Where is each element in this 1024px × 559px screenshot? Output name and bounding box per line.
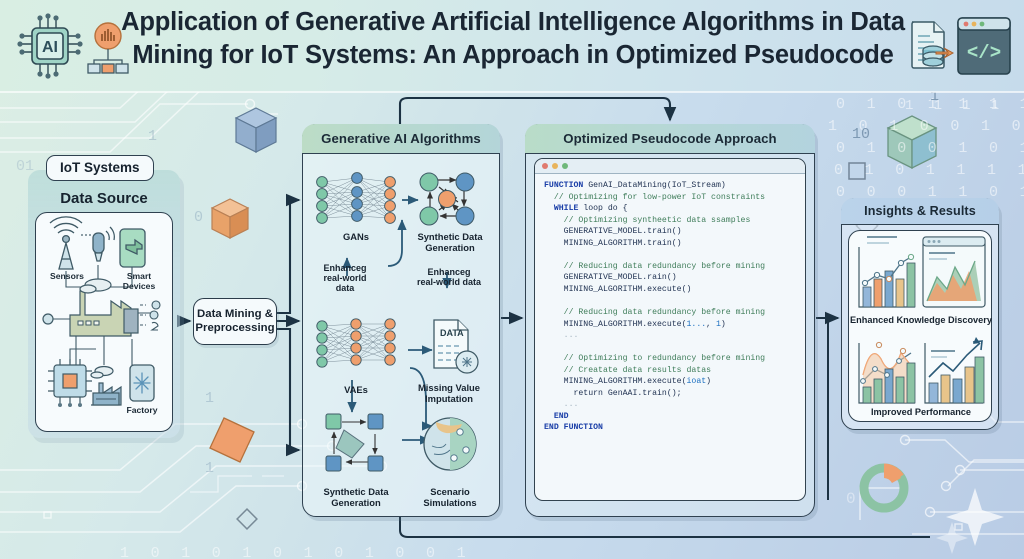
factory-label: Factory — [118, 405, 166, 415]
sdg-top-label-2: Generation — [400, 242, 500, 253]
sdg-bottom-label-2: Generation — [302, 497, 410, 508]
mvi-label-2: Imputation — [398, 393, 500, 404]
smart-devices-label-1: Smart — [114, 271, 164, 281]
missing-value-imputation-icon: DATA — [434, 320, 478, 373]
sensor-tower-icon — [50, 217, 82, 269]
smart-devices-label-2: Devices — [114, 281, 164, 291]
microchip-icon — [48, 359, 92, 407]
factory-small-icon — [88, 367, 122, 406]
edge-label-left-3: data — [306, 283, 384, 293]
binary-row-1: 0 1 0 1 1 1 1 1 1 1 0 0 0 1 1 0 — [836, 96, 1024, 113]
infographic-canvas: 0 1 0 1 1 1 1 1 1 1 0 0 0 1 1 0 1 0 1 0 … — [0, 0, 1024, 559]
code-content[interactable]: FUNCTION GenAI_DataMining(IoT_Stream) //… — [535, 174, 805, 434]
ai-chip-icon: AI — [14, 10, 86, 82]
data-source-icon-card: Sensors Smart Devices Factory — [35, 212, 173, 432]
code-line: MINING_ALGORITHM.execute(1..., 1) — [544, 319, 797, 331]
svg-text:</>: </> — [967, 42, 1001, 64]
code-line: MINING_ALGORITHM.execute() — [544, 284, 797, 296]
iot-systems-pill[interactable]: IoT Systems — [46, 155, 154, 181]
sdg-bottom-label-1: Synthetic Data — [302, 486, 410, 497]
dm-line2: Preprocessing — [195, 322, 274, 334]
insights-item-label-1: Enhanced Knowledge Discovery — [849, 315, 993, 325]
code-line: ... — [544, 399, 797, 411]
document-database-icon — [906, 18, 958, 80]
code-line: GENERATIVE_MODEL.train() — [544, 226, 797, 238]
window-dot-red[interactable] — [542, 163, 548, 169]
bar-line-chart-1 — [859, 237, 915, 307]
gans-network-icon — [317, 173, 396, 224]
donut-chart-decoration — [864, 468, 904, 508]
smart-phone-link-icon — [120, 229, 145, 267]
edge-label-right-1: Enhanceg — [398, 267, 500, 277]
gans-label: GANs — [302, 231, 410, 242]
page-title: Application of Generative Artificial Int… — [118, 6, 908, 72]
code-line — [544, 342, 797, 354]
code-line: // Optimizing for low-power IoT constrai… — [544, 192, 797, 204]
bit-decoration: 1 — [148, 128, 157, 145]
diamond-orange — [210, 418, 254, 462]
data-mining-preprocessing-box[interactable]: Data Mining & Preprocessing — [193, 298, 277, 345]
code-line: GENERATIVE_MODEL.rain() — [544, 272, 797, 284]
scenario-label-2: Simulations — [400, 497, 500, 508]
bit-decoration: 0 — [846, 490, 856, 508]
data-source-heading: Data Source — [28, 190, 180, 207]
vaes-label: VAEs — [302, 384, 410, 395]
code-line: END FUNCTION — [544, 422, 797, 434]
scenario-simulations-icon — [424, 418, 476, 470]
code-line: FUNCTION GenAI_DataMining(IoT_Stream) — [544, 180, 797, 192]
edge-label-left-2: real-world — [306, 273, 384, 283]
dm-line1: Data Mining & — [197, 308, 273, 320]
code-line: WHILE loop do { — [544, 203, 797, 215]
data-source-icon-graph — [36, 213, 174, 433]
cube-orange — [212, 199, 248, 238]
bit-decoration: 1 — [205, 460, 214, 477]
mvi-label-1: Missing Value — [398, 382, 500, 393]
code-window-titlebar — [535, 159, 805, 174]
code-line: // Optimizing syntheetic data ssamples — [544, 215, 797, 227]
code-line: // Optimizing to redundancy before minin… — [544, 353, 797, 365]
growth-bar-chart — [925, 337, 984, 403]
insights-heading: Insights & Results — [841, 198, 999, 225]
edge-label-left-1: Enhanceg — [306, 263, 384, 273]
binary-row-2: 1 0 1 0 0 1 0 0 0 1 1 1 0 1 0 1 0 — [828, 118, 1024, 135]
mobile-snowflake-icon — [130, 365, 154, 401]
code-line: MINING_ALGORITHM.execute(ioat) — [544, 376, 797, 388]
browser-area-chart — [923, 237, 985, 307]
smart-bulb-icon — [82, 227, 114, 261]
synthetic-data-generation-top-icon — [420, 173, 474, 225]
generative-ai-diagram: DATA — [302, 154, 500, 517]
binary-row-bottom: 1 0 1 0 1 0 1 0 1 0 0 1 — [120, 545, 472, 559]
vaes-network-icon — [317, 319, 395, 367]
insights-card: Enhanced Knowledge Discovery Improved Pe… — [848, 230, 992, 422]
insights-item-label-2: Improved Performance — [849, 407, 993, 417]
sdg-top-label-1: Synthetic Data — [400, 231, 500, 242]
code-line: // Reducing data redundancy before minin… — [544, 261, 797, 273]
header-divider — [0, 91, 1024, 93]
sensors-label: Sensors — [38, 271, 96, 281]
bar-line-chart-2 — [859, 342, 915, 403]
synthetic-data-generation-bottom-icon — [326, 414, 383, 471]
bit-decoration: 0 — [194, 209, 203, 226]
code-line: ... — [544, 330, 797, 342]
code-line: END — [544, 411, 797, 423]
cube-green — [888, 116, 936, 168]
binary-row-6: 1 1 1 1 — [905, 98, 1005, 114]
code-line — [544, 295, 797, 307]
code-line: // Reducing data redundancy before minin… — [544, 307, 797, 319]
pseudocode-heading: Optimized Pseudocode Approach — [525, 124, 815, 154]
code-line: // Creatate data results datas — [544, 365, 797, 377]
bit-decoration: 1 — [205, 390, 214, 407]
code-line: return GenAAI.train(); — [544, 388, 797, 400]
bit-decoration: 10 — [852, 126, 870, 143]
edge-label-right-2: real-world data — [398, 277, 500, 287]
code-window-icon: </> — [956, 14, 1012, 80]
code-line: MINING_ALGORITHM.train() — [544, 238, 797, 250]
binary-row-4: 0 1 0 1 1 1 1 1 1 0 1 0 — [834, 162, 1024, 179]
generative-ai-heading: Generative AI Algorithms — [302, 124, 500, 154]
code-window[interactable]: FUNCTION GenAI_DataMining(IoT_Stream) //… — [534, 158, 806, 501]
window-dot-green[interactable] — [562, 163, 568, 169]
scenario-label-1: Scenario — [400, 486, 500, 497]
window-dot-yellow[interactable] — [552, 163, 558, 169]
binary-row-3: 0 1 0 0 1 0 1 1 0 1 0 1 — [836, 140, 1024, 157]
svg-text:AI: AI — [42, 39, 58, 56]
insights-charts — [849, 231, 993, 423]
code-line — [544, 249, 797, 261]
cube-blue — [236, 108, 276, 152]
svg-text:DATA: DATA — [440, 328, 464, 338]
